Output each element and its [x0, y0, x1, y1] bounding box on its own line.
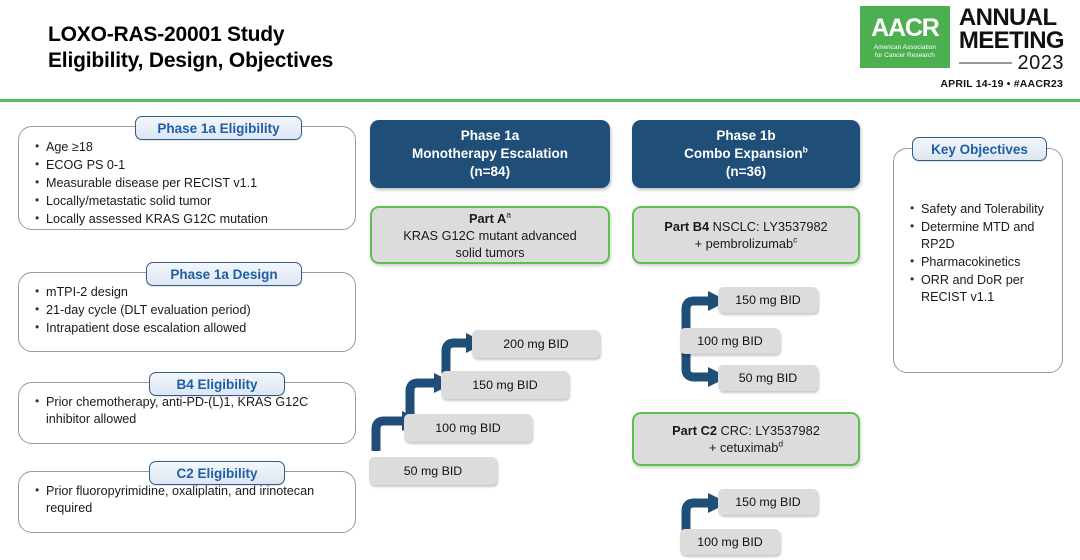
meeting-label: MEETING	[959, 29, 1064, 52]
dose-chip-c2-100: 100 mg BID	[680, 529, 780, 555]
column-header-1b-line2-text: Combo Expansion	[684, 146, 803, 161]
page-title: LOXO-RAS-20001 Study Eligibility, Design…	[48, 22, 333, 74]
part-b4-desc: NSCLC: LY3537982	[709, 219, 828, 234]
dose-chip-1a-50: 50 mg BID	[369, 457, 497, 485]
column-header-1b-line2: Combo Expansionb	[684, 145, 808, 163]
panel-tab-key-objectives: Key Objectives	[912, 137, 1047, 161]
column-header-1b-line3: (n=36)	[726, 163, 766, 181]
list-item: Locally assessed KRAS G12C mutation	[33, 211, 345, 228]
dose-chip-1a-150: 150 mg BID	[441, 371, 569, 399]
part-b4-desc-line2-text: + pembrolizumab	[695, 236, 794, 251]
panel-key-objectives: Safety and Tolerability Determine MTD an…	[893, 148, 1063, 373]
list-item: mTPI-2 design	[33, 284, 345, 301]
column-header-line1: Phase 1a	[461, 127, 520, 145]
list-item: Safety and Tolerability	[908, 201, 1056, 218]
part-a-name: Part A	[469, 211, 506, 226]
panel-tab-b4-eligibility: B4 Eligibility	[149, 372, 285, 396]
meeting-date: APRIL 14-19 • #AACR23	[940, 78, 1063, 90]
dose-chip-c2-150: 150 mg BID	[718, 489, 818, 515]
list-item: Prior fluoropyrimidine, oxaliplatin, and…	[33, 483, 343, 517]
dose-chip-1a-100: 100 mg BID	[404, 414, 532, 442]
part-c2-title: Part C2 CRC: LY3537982	[672, 422, 820, 439]
panel-list: mTPI-2 design 21-day cycle (DLT evaluati…	[33, 284, 345, 338]
aacr-logo: AACR American Association for Cancer Res…	[860, 6, 1064, 73]
part-a-desc-line1: KRAS G12C mutant advanced	[403, 227, 577, 244]
panel-list: Prior chemotherapy, anti-PD-(L)1, KRAS G…	[33, 394, 343, 429]
panel-tab-phase-1a-eligibility: Phase 1a Eligibility	[135, 116, 302, 140]
column-header-phase-1b: Phase 1b Combo Expansionb (n=36)	[632, 120, 860, 188]
page-title-line1: LOXO-RAS-20001 Study	[48, 22, 333, 48]
part-b4-box: Part B4 NSCLC: LY3537982 + pembrolizumab…	[632, 206, 860, 264]
year-rule	[959, 62, 1012, 64]
panel-list: Prior fluoropyrimidine, oxaliplatin, and…	[33, 483, 343, 518]
part-c2-desc-line2: + cetuximabd	[709, 439, 783, 456]
dose-chip-b4-50: 50 mg BID	[718, 365, 818, 391]
annual-label: ANNUAL	[959, 6, 1064, 29]
list-item: Prior chemotherapy, anti-PD-(L)1, KRAS G…	[33, 394, 343, 428]
part-b4-desc-line2: + pembrolizumabc	[695, 235, 798, 252]
part-c2-name: Part C2	[672, 423, 717, 438]
panel-tab-c2-eligibility: C2 Eligibility	[149, 461, 285, 485]
part-a-title: Part Aa	[469, 210, 511, 227]
list-item: 21-day cycle (DLT evaluation period)	[33, 302, 345, 319]
list-item: Measurable disease per RECIST v1.1	[33, 175, 345, 192]
page-title-line2: Eligibility, Design, Objectives	[48, 48, 333, 74]
dose-chip-1a-200: 200 mg BID	[472, 330, 600, 358]
list-item: ECOG PS 0-1	[33, 157, 345, 174]
part-b4-name: Part B4	[664, 219, 709, 234]
dose-chip-b4-100: 100 mg BID	[680, 328, 780, 354]
list-item: Pharmacokinetics	[908, 254, 1056, 271]
panel-phase-1a-eligibility: Age ≥18 ECOG PS 0-1 Measurable disease p…	[18, 126, 356, 230]
list-item: Age ≥18	[33, 139, 345, 156]
part-c2-box: Part C2 CRC: LY3537982 + cetuximabd	[632, 412, 860, 466]
panel-list: Safety and Tolerability Determine MTD an…	[908, 201, 1056, 307]
annual-meeting-block: ANNUAL MEETING 2023	[959, 6, 1064, 73]
aacr-logo-subtitle-line1: American Association	[874, 44, 936, 52]
column-header-phase-1a: Phase 1a Monotherapy Escalation (n=84)	[370, 120, 610, 188]
column-header-1b-line1: Phase 1b	[716, 127, 775, 145]
aacr-logo-wordmark: AACR	[871, 15, 938, 41]
header-divider	[0, 99, 1080, 102]
panel-tab-phase-1a-design: Phase 1a Design	[146, 262, 302, 286]
list-item: Intrapatient dose escalation allowed	[33, 320, 345, 337]
aacr-logo-subtitle: American Association for Cancer Research	[874, 44, 936, 60]
slide-root: LOXO-RAS-20001 Study Eligibility, Design…	[0, 0, 1080, 560]
part-c2-desc: CRC: LY3537982	[717, 423, 820, 438]
aacr-logo-subtitle-line2: for Cancer Research	[874, 52, 936, 60]
year-row: 2023	[959, 53, 1064, 73]
part-b4-title: Part B4 NSCLC: LY3537982	[664, 218, 827, 235]
panel-list: Age ≥18 ECOG PS 0-1 Measurable disease p…	[33, 139, 345, 229]
year-label: 2023	[1018, 53, 1065, 73]
phase-1b-footnote-marker: b	[803, 145, 808, 155]
list-item: ORR and DoR per RECIST v1.1	[908, 272, 1056, 306]
part-b4-footnote-marker: c	[793, 235, 797, 245]
column-header-line2: Monotherapy Escalation	[412, 145, 568, 163]
part-c2-desc-line2-text: + cetuximab	[709, 440, 778, 455]
list-item: Determine MTD and RP2D	[908, 219, 1056, 253]
aacr-logo-mark: AACR American Association for Cancer Res…	[860, 6, 950, 68]
list-item: Locally/metastatic solid tumor	[33, 193, 345, 210]
dose-chip-b4-150: 150 mg BID	[718, 287, 818, 313]
part-a-footnote-marker: a	[506, 209, 511, 219]
part-a-box: Part Aa KRAS G12C mutant advanced solid …	[370, 206, 610, 264]
part-c2-footnote-marker: d	[778, 439, 783, 449]
part-a-desc-line2: solid tumors	[456, 244, 525, 261]
column-header-line3: (n=84)	[470, 163, 510, 181]
